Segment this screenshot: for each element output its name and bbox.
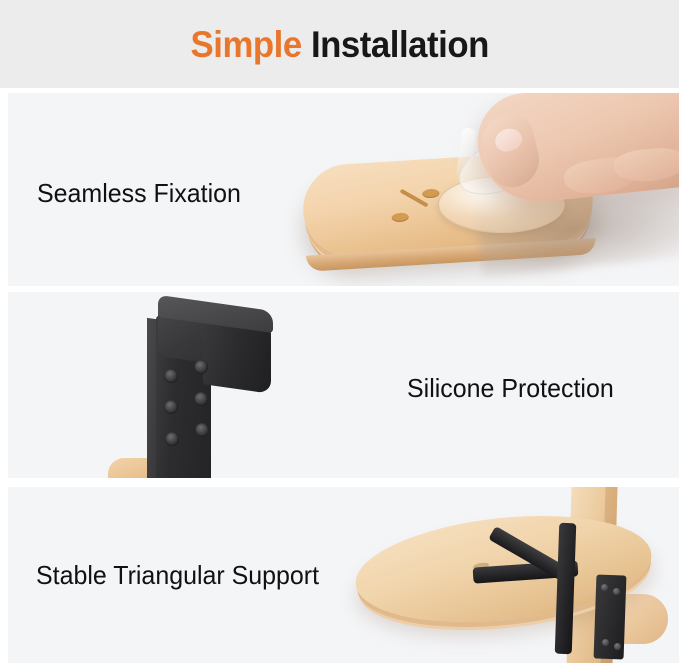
- silicone-grip-pad: [194, 392, 208, 406]
- mounting-screw: [613, 588, 620, 595]
- board-mount-hole-top: [422, 189, 440, 199]
- silicone-grip-pad: [164, 400, 178, 414]
- title-accent-word: Simple: [190, 24, 301, 65]
- title-rest-word: Installation: [302, 24, 489, 65]
- page-title: Simple Installation: [190, 26, 488, 63]
- panel-label-stable-triangular-support: Stable Triangular Support: [36, 560, 319, 591]
- infographic-page: Simple Installation Seamless Fixation: [0, 0, 679, 672]
- panel-label-seamless-fixation: Seamless Fixation: [37, 178, 241, 209]
- panel-label-silicone-protection: Silicone Protection: [407, 373, 614, 404]
- mounting-screw: [614, 643, 621, 650]
- mounting-screw: [601, 584, 608, 591]
- bracket-mounting-plate: [594, 575, 627, 660]
- mounting-screw: [602, 639, 609, 646]
- silicone-grip-pad: [195, 423, 209, 437]
- silicone-grip-pad: [164, 369, 178, 383]
- silicone-grip-pad: [165, 432, 179, 446]
- board-mount-hole-bottom: [391, 212, 409, 222]
- silicone-grip-pad: [194, 360, 208, 374]
- header-band: Simple Installation: [0, 0, 679, 88]
- wooden-knob: [620, 594, 668, 644]
